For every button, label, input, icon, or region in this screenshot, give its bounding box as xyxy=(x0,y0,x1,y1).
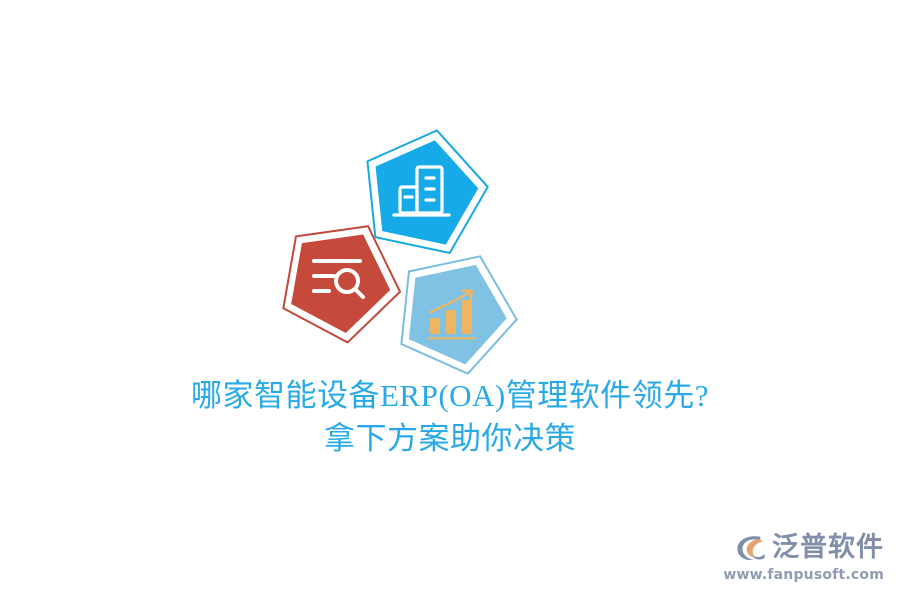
watermark-brand-name: 泛普软件 xyxy=(772,534,884,561)
watermark-logo: 泛普软件 www.fanpusoft.com xyxy=(723,530,884,582)
page-canvas: 哪家智能设备ERP(OA)管理软件领先? 拿下方案助你决策 泛普软件 www.f… xyxy=(0,0,900,600)
pentagon-body xyxy=(407,259,512,368)
pentagon-body xyxy=(288,224,399,339)
headline-line-1: 哪家智能设备ERP(OA)管理软件领先? xyxy=(0,374,900,417)
watermark-brand-row: 泛普软件 xyxy=(734,530,884,564)
watermark-url: www.fanpusoft.com xyxy=(723,568,884,582)
headline-line-2: 拿下方案助你决策 xyxy=(0,417,900,460)
headline: 哪家智能设备ERP(OA)管理软件领先? 拿下方案助你决策 xyxy=(0,374,900,460)
pentagon-icon-cluster xyxy=(268,128,528,343)
fanpu-logo-mark-icon xyxy=(734,530,768,564)
